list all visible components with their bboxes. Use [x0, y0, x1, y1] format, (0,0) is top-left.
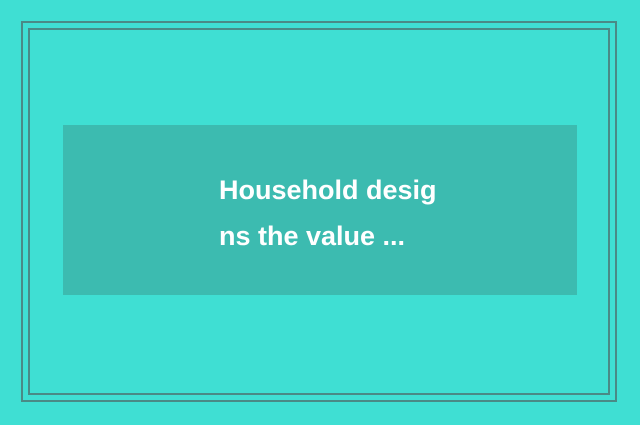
title-panel: Household desig ns the value ...: [63, 125, 577, 295]
panel-title-text: Household desig ns the value ...: [219, 167, 549, 259]
placeholder-image-canvas: Household desig ns the value ...: [0, 0, 640, 425]
